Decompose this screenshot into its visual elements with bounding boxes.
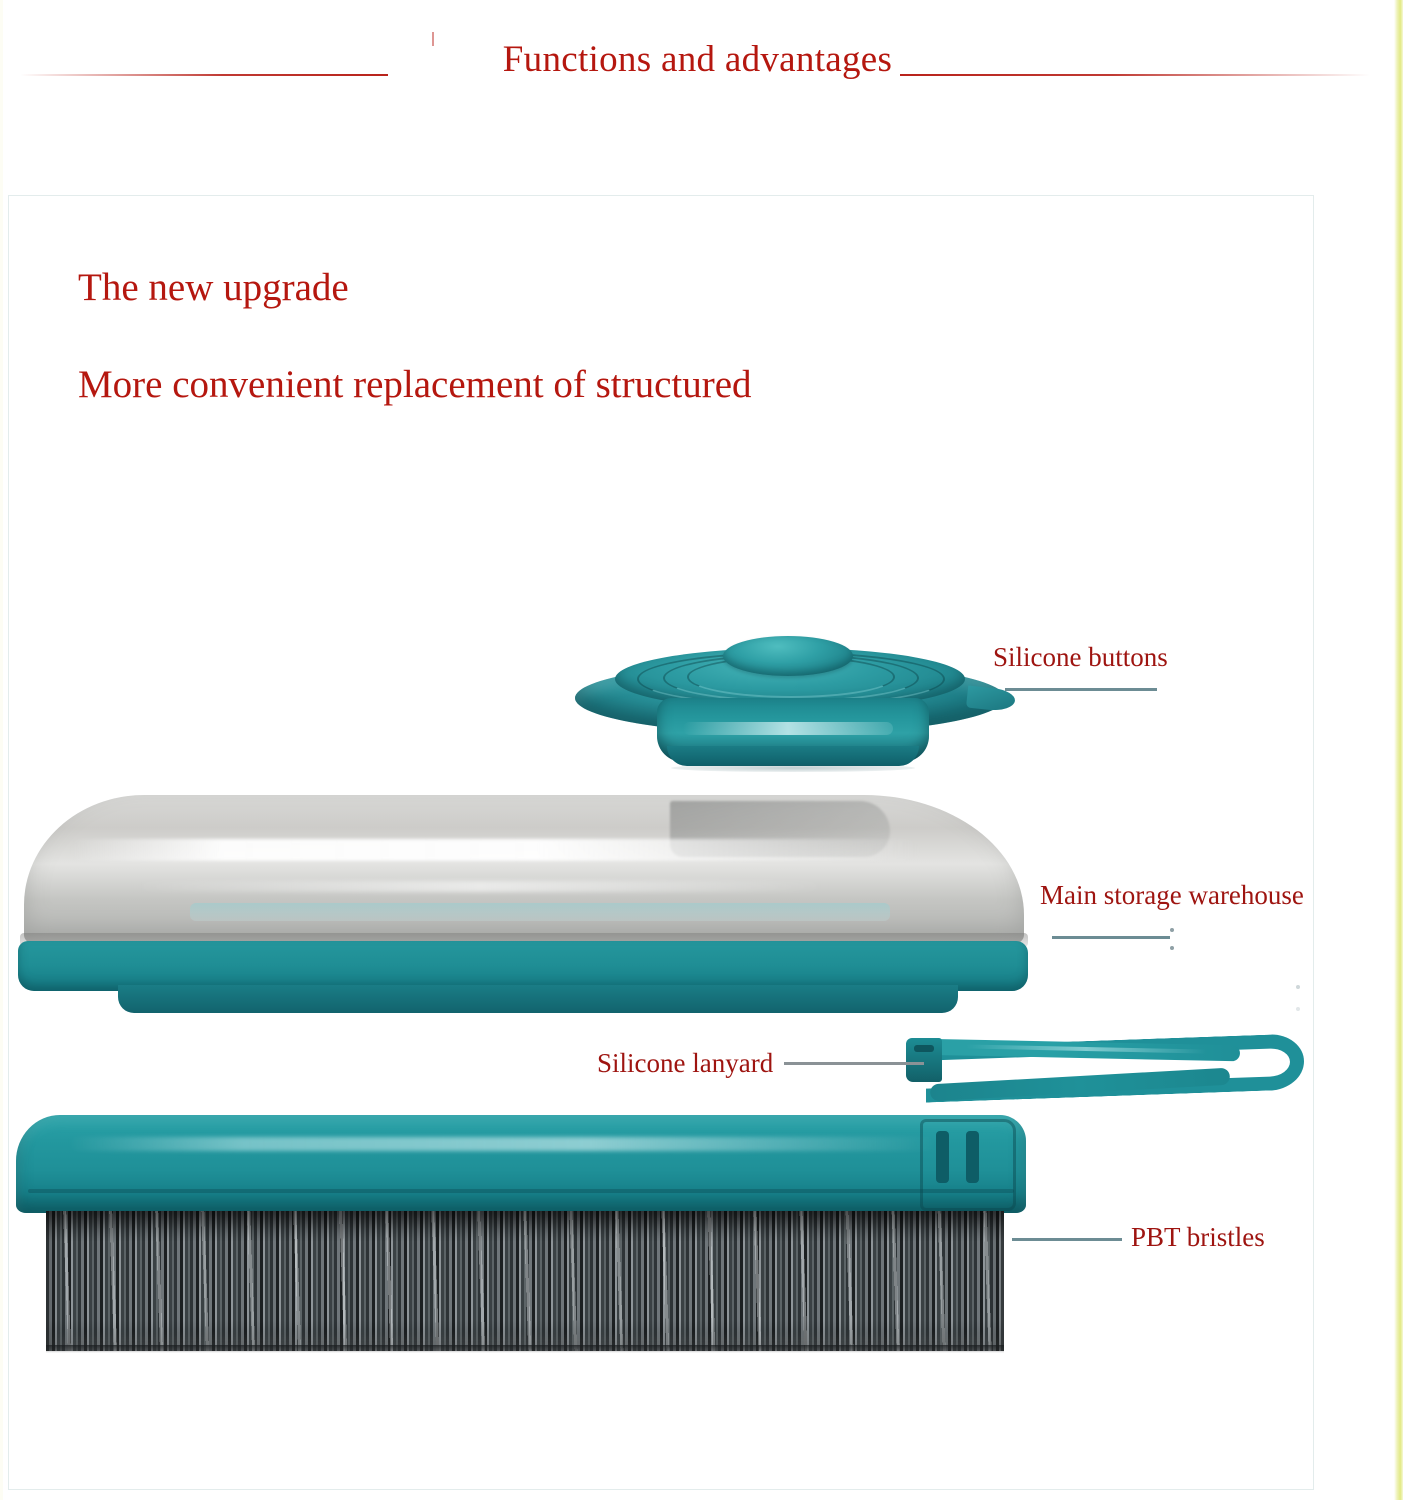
leader-dot-lower bbox=[1170, 946, 1174, 950]
brush-illustration bbox=[8, 1115, 1038, 1365]
cap-base-lip bbox=[667, 746, 919, 766]
cap-base-highlight bbox=[683, 722, 893, 735]
storage-teal-base bbox=[18, 941, 1028, 991]
brush-bristles-tip-shadow bbox=[46, 1345, 1004, 1353]
callout-label-silicone-buttons: Silicone buttons bbox=[993, 642, 1168, 673]
storage-dome-highlight bbox=[70, 839, 920, 861]
page-title: Functions and advantages bbox=[0, 38, 1395, 81]
callout-label-main-storage-warehouse: Main storage warehouse bbox=[1040, 880, 1304, 911]
silicone-cap-illustration bbox=[575, 636, 1005, 776]
product-infographic-page: Functions and advantages The new upgrade… bbox=[0, 0, 1403, 1500]
storage-dome-highlight-secondary bbox=[130, 881, 830, 892]
silicone-lanyard-illustration bbox=[906, 1036, 1306, 1104]
callout-label-pbt-bristles: PBT bristles bbox=[1131, 1222, 1265, 1253]
brush-seam-line bbox=[28, 1189, 1014, 1193]
cap-center-button bbox=[723, 636, 853, 676]
main-storage-illustration bbox=[10, 795, 1035, 1010]
brush-body-highlight bbox=[68, 1137, 938, 1151]
header: Functions and advantages bbox=[0, 0, 1403, 130]
panel-dot-upper bbox=[1296, 985, 1300, 989]
left-edge-stripe bbox=[0, 0, 3, 1500]
callout-label-silicone-lanyard: Silicone lanyard bbox=[597, 1048, 773, 1079]
leader-line-main-storage bbox=[1052, 936, 1170, 939]
brush-latch-slot-left bbox=[936, 1131, 949, 1183]
brush-teal-body bbox=[16, 1115, 1026, 1213]
brush-bristles-shading bbox=[46, 1211, 1004, 1351]
leader-dot-upper bbox=[1170, 928, 1174, 932]
intro-line-1: The new upgrade bbox=[78, 265, 349, 310]
leader-line-silicone-lanyard bbox=[784, 1062, 924, 1065]
storage-inner-band bbox=[190, 903, 890, 921]
right-edge-stripe bbox=[1394, 0, 1403, 1500]
lanyard-clip-notch bbox=[914, 1045, 934, 1052]
panel-dot-lower bbox=[1296, 1007, 1300, 1011]
brush-latch-slot-right bbox=[966, 1131, 979, 1183]
leader-line-silicone-buttons bbox=[1005, 688, 1157, 691]
cap-drop-shadow bbox=[671, 764, 915, 772]
leader-line-pbt-bristles bbox=[1012, 1238, 1122, 1241]
intro-line-2: More convenient replacement of structure… bbox=[78, 362, 752, 407]
storage-foot bbox=[118, 985, 958, 1013]
